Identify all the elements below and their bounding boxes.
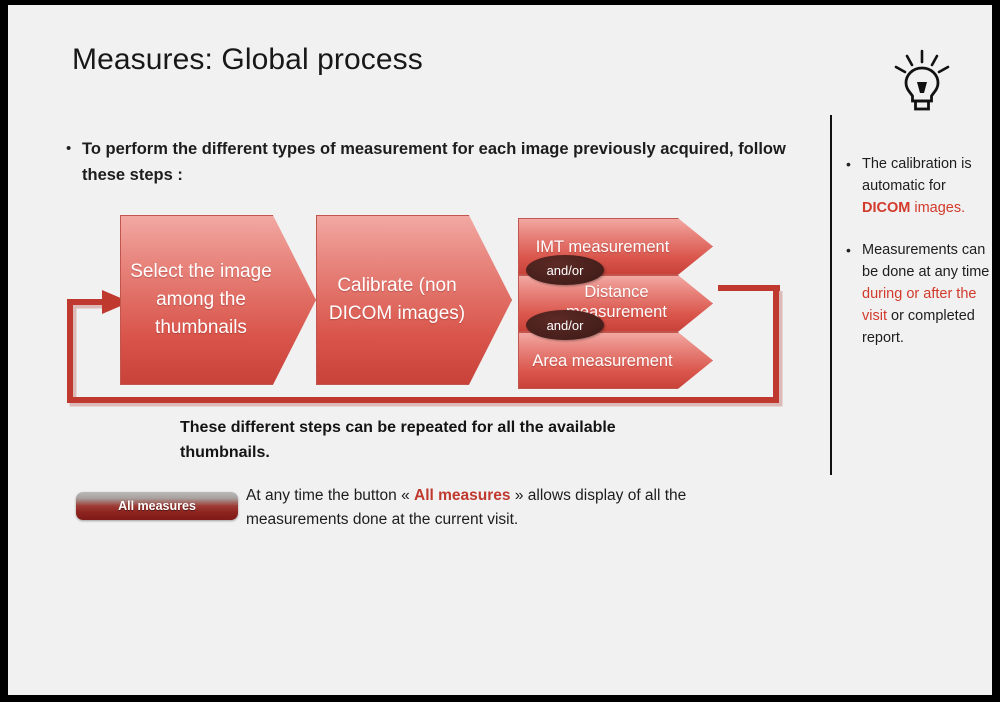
caption-accent: All measures — [414, 487, 511, 504]
tip-text: The calibration is automatic for DICOM i… — [862, 153, 992, 219]
intro-bullet: • To perform the different types of meas… — [66, 136, 811, 188]
slide-canvas: Measures: Global process • To perform th… — [8, 5, 992, 695]
caption-prefix: At any time the button « — [246, 487, 414, 504]
lightbulb-icon — [892, 49, 952, 111]
repeat-steps-caption: These different steps can be repeated fo… — [180, 415, 680, 465]
tip-accent-bold: DICOM — [862, 200, 910, 216]
tip-accent-plain: images. — [910, 200, 965, 216]
tip-prefix: Measurements can be done at any time — [862, 242, 989, 280]
tip-prefix: The calibration is automatic for — [862, 156, 972, 194]
tip-text: Measurements can be done at any time dur… — [862, 239, 992, 349]
all-measures-caption: At any time the button « All measures » … — [246, 484, 726, 532]
bullet-marker-icon: • — [846, 153, 862, 175]
intro-text: To perform the different types of measur… — [82, 136, 811, 188]
tip-item: • The calibration is automatic for DICOM… — [846, 153, 992, 219]
measurement-option-label: Area measurement — [532, 351, 698, 371]
process-diagram: Select the image among the thumbnails Ca… — [8, 200, 818, 415]
slide-frame: Measures: Global process • To perform th… — [0, 0, 1000, 702]
process-step-label: Calibrate (non DICOM images) — [317, 272, 511, 328]
measurement-option-area[interactable]: Area measurement — [518, 332, 713, 389]
bullet-marker-icon: • — [66, 136, 82, 161]
tips-divider — [830, 115, 832, 475]
all-measures-button-label: All measures — [118, 499, 196, 513]
measurement-option-label: IMT measurement — [536, 237, 696, 257]
process-step-label: Select the image among the thumbnails — [121, 258, 315, 342]
tips-list: • The calibration is automatic for DICOM… — [846, 153, 992, 369]
all-measures-button[interactable]: All measures — [76, 492, 238, 520]
page-title: Measures: Global process — [72, 43, 423, 77]
tip-item: • Measurements can be done at any time d… — [846, 239, 992, 349]
and-or-badge: and/or — [526, 255, 604, 285]
bullet-marker-icon: • — [846, 239, 862, 261]
and-or-badge: and/or — [526, 310, 604, 340]
